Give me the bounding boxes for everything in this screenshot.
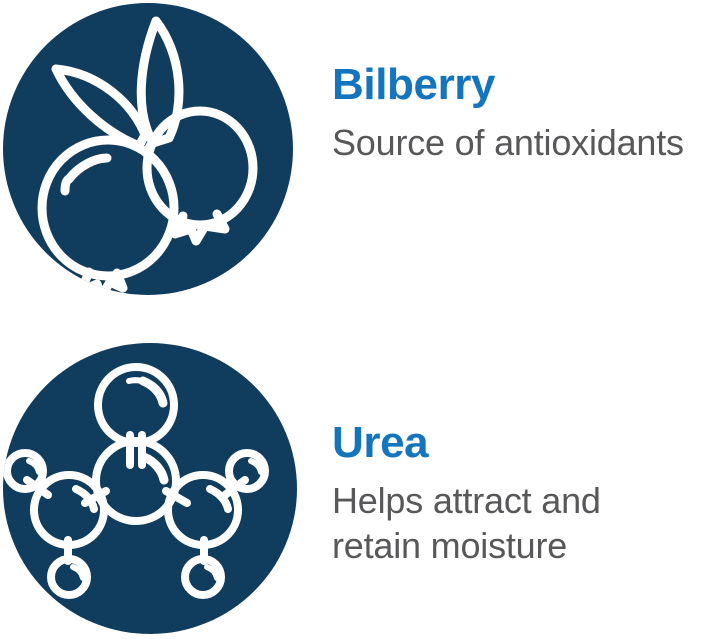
description-line: Helps attract and	[332, 479, 713, 524]
bilberry-icon-badge	[3, 3, 293, 295]
urea-molecule-icon	[3, 343, 297, 634]
ingredient-description-bilberry: Source of antioxidants	[332, 121, 713, 166]
urea-text-block: Urea Helps attract and retain moisture	[332, 343, 713, 568]
ingredient-title-bilberry: Bilberry	[332, 63, 713, 107]
ingredient-item-urea: Urea Helps attract and retain moisture	[0, 343, 713, 636]
ingredient-list: Bilberry Source of antioxidants	[0, 0, 713, 639]
bilberry-text-block: Bilberry Source of antioxidants	[332, 3, 713, 166]
ingredient-title-urea: Urea	[332, 421, 713, 465]
ingredient-description-urea: Helps attract and retain moisture	[332, 479, 713, 568]
bilberry-icon	[3, 3, 293, 295]
description-line: retain moisture	[332, 524, 713, 569]
urea-icon-badge	[3, 343, 297, 634]
description-line: Source of antioxidants	[332, 121, 713, 166]
ingredient-item-bilberry: Bilberry Source of antioxidants	[0, 3, 713, 298]
